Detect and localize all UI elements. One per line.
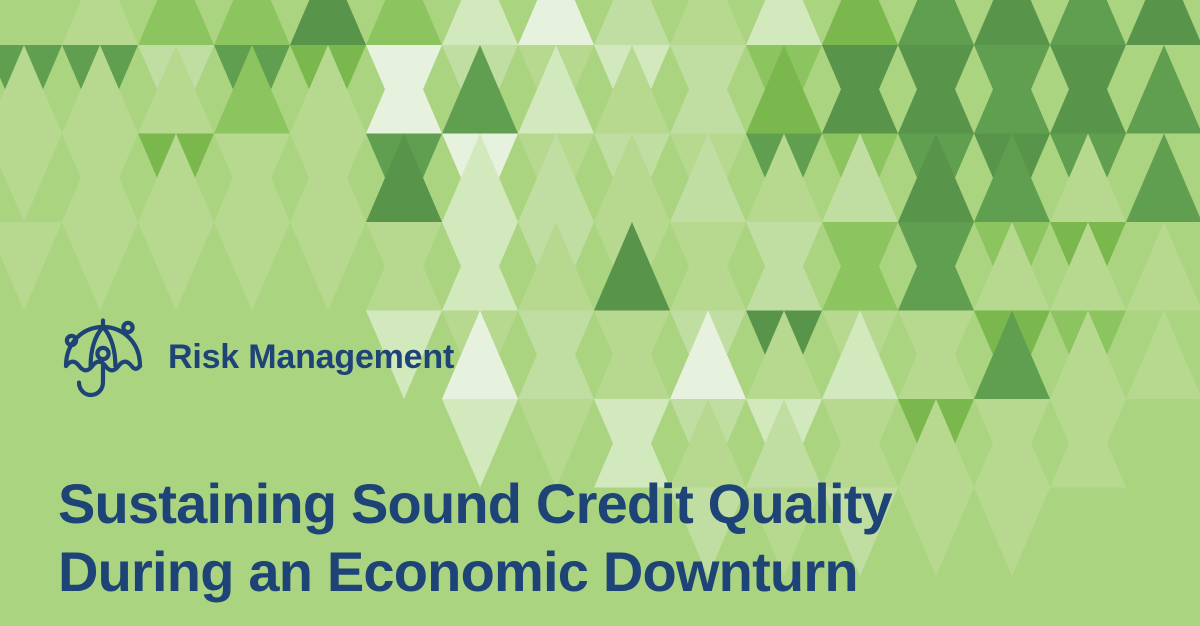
headline-line-2: During an Economic Downturn <box>58 538 1058 606</box>
banner-content: Risk Management Sustaining Sound Credit … <box>0 0 1200 626</box>
article-banner: Risk Management Sustaining Sound Credit … <box>0 0 1200 626</box>
category-label: Risk Management <box>168 340 454 376</box>
category-eyebrow: Risk Management <box>60 316 454 400</box>
headline-line-1: Sustaining Sound Credit Quality <box>58 470 1058 538</box>
page-title: Sustaining Sound Credit Quality During a… <box>58 470 1058 606</box>
umbrella-icon <box>60 316 146 400</box>
